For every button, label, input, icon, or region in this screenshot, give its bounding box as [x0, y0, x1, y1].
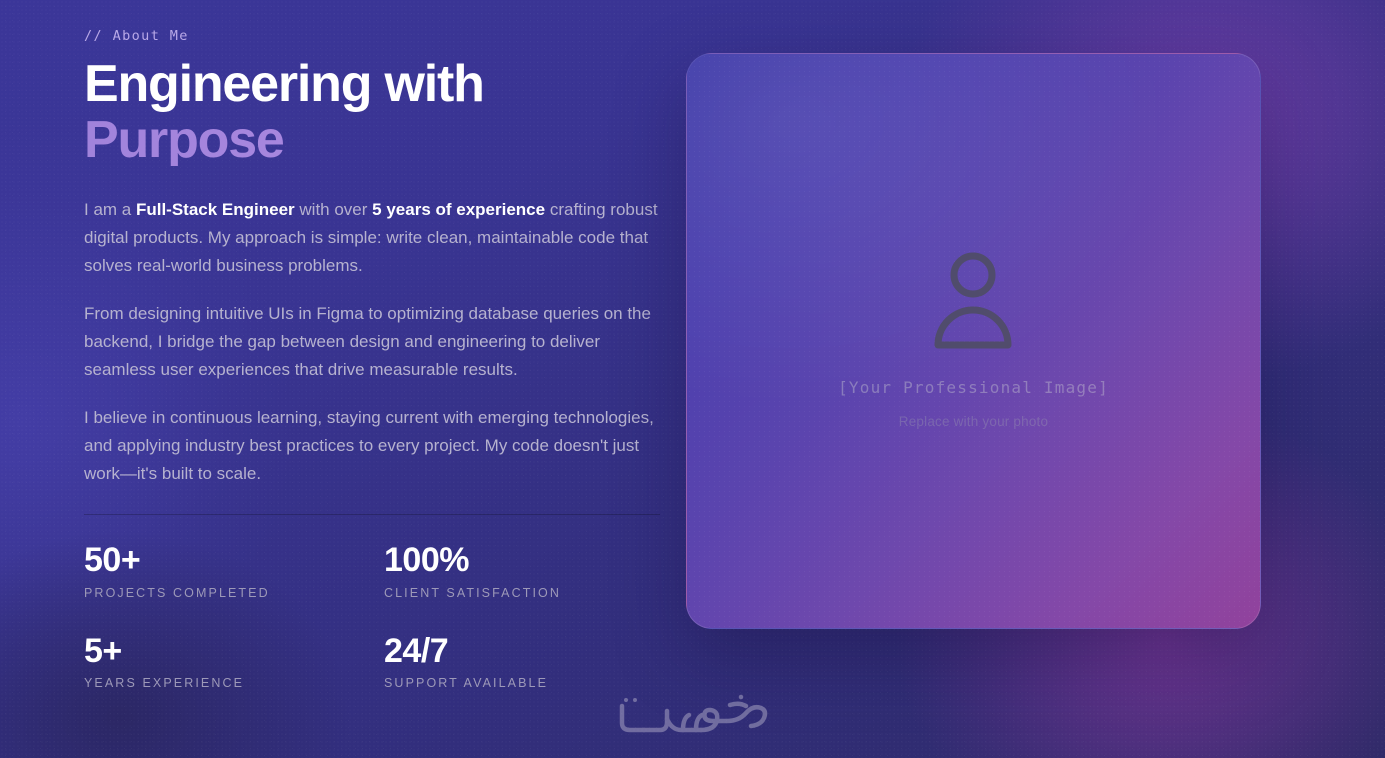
page-title-line-1: Engineering with — [84, 55, 484, 113]
bio-paragraph-3: I believe in continuous learning, stayin… — [84, 404, 660, 488]
stats-grid: 50+ PROJECTS COMPLETED 100% CLIENT SATIS… — [84, 543, 660, 690]
stat-value: 5+ — [84, 634, 384, 670]
stats-divider — [84, 514, 660, 515]
page-title-accent-word: Purpose — [84, 114, 660, 166]
bio-paragraph-1: I am a Full-Stack Engineer with over 5 y… — [84, 196, 660, 280]
about-image-column: [Your Professional Image] Replace with y… — [700, 0, 1385, 758]
stat-label: SUPPORT AVAILABLE — [384, 676, 684, 690]
stat-value: 24/7 — [384, 634, 684, 670]
stat-label: CLIENT SATISFACTION — [384, 586, 684, 600]
stat-value: 100% — [384, 543, 684, 579]
about-section: // About Me Engineering with Purpose I a… — [0, 0, 1385, 758]
bio-p1-text-1: I am a — [84, 200, 136, 219]
stat-item-projects-completed: 50+ PROJECTS COMPLETED — [84, 543, 384, 600]
page-title: Engineering with Purpose — [84, 58, 660, 166]
stat-item-years-experience: 5+ YEARS EXPERIENCE — [84, 634, 384, 691]
profile-photo-placeholder-card[interactable]: [Your Professional Image] Replace with y… — [686, 53, 1261, 629]
person-icon — [930, 248, 1016, 352]
section-eyebrow-label: // About Me — [84, 28, 660, 44]
stat-value: 50+ — [84, 543, 384, 579]
bio-paragraphs: I am a Full-Stack Engineer with over 5 y… — [84, 196, 660, 488]
photo-placeholder-subtitle: Replace with your photo — [899, 414, 1048, 429]
stat-item-client-satisfaction: 100% CLIENT SATISFACTION — [384, 543, 684, 600]
bio-p1-text-2: with over — [295, 200, 372, 219]
bio-p1-bold-role: Full-Stack Engineer — [136, 200, 295, 219]
bio-p1-bold-experience: 5 years of experience — [372, 200, 545, 219]
photo-placeholder-title: [Your Professional Image] — [838, 378, 1109, 397]
about-text-column: // About Me Engineering with Purpose I a… — [0, 0, 700, 758]
stat-label: PROJECTS COMPLETED — [84, 586, 384, 600]
stat-item-support-available: 24/7 SUPPORT AVAILABLE — [384, 634, 684, 691]
photo-placeholder-content: [Your Professional Image] Replace with y… — [838, 248, 1109, 429]
stat-label: YEARS EXPERIENCE — [84, 676, 384, 690]
bio-paragraph-2: From designing intuitive UIs in Figma to… — [84, 300, 660, 384]
